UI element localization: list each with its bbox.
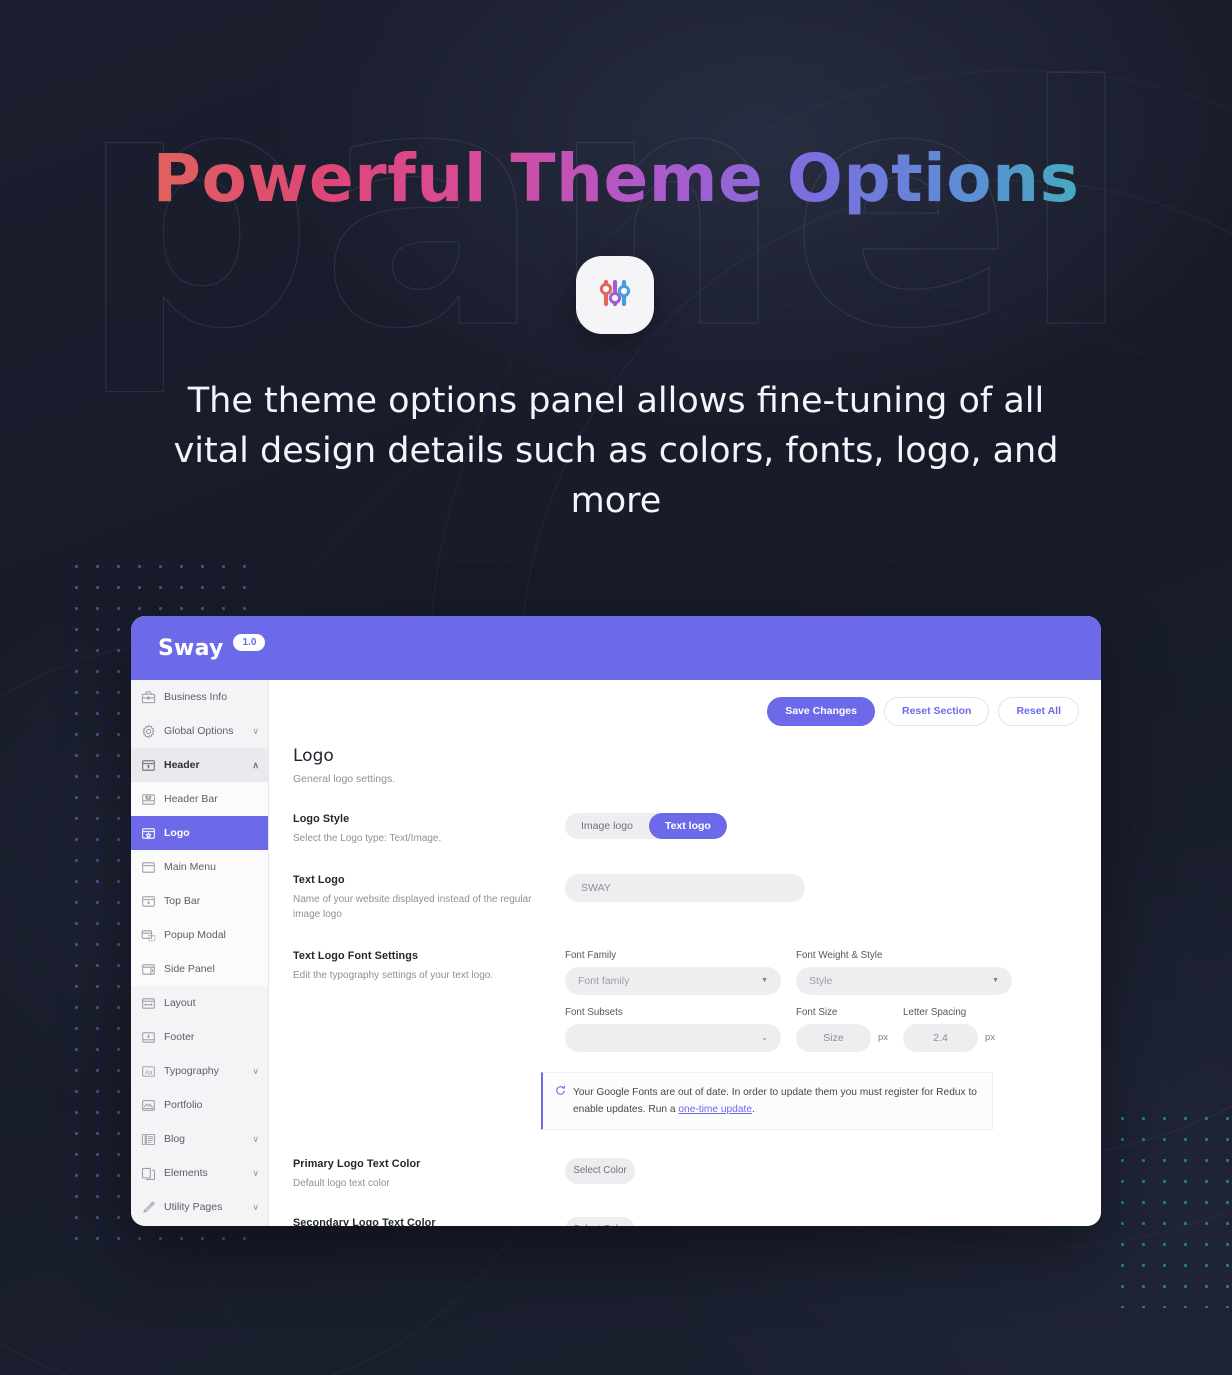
field-control: Font Family Font family ▼ Font Weight & …: [565, 950, 1077, 1052]
chevron-down-icon: ∨: [252, 1067, 259, 1076]
notice-text-before: Your Google Fonts are out of date. In or…: [573, 1087, 977, 1115]
page-root: panel Powerful Theme Options The theme o…: [0, 0, 1232, 1375]
field-control: Select Color: [565, 1158, 1077, 1191]
field-label-group: Secondary Logo Text Color Logo text colo…: [293, 1217, 565, 1227]
sidebar-item-blog[interactable]: Blog ∨: [131, 1122, 268, 1156]
field-control: Image logo Text logo: [565, 813, 1077, 846]
sidebar-item-typography[interactable]: Aa Typography ∨: [131, 1054, 268, 1088]
field-row-font-settings: Text Logo Font Settings Edit the typogra…: [269, 950, 1101, 1052]
chevron-down-icon: ∨: [252, 1169, 259, 1178]
window-nodes-icon: [141, 792, 156, 807]
window-side-icon: [141, 962, 156, 977]
sidebar-item-business-info[interactable]: Business Info: [131, 680, 268, 714]
window-dashed-icon: [141, 928, 156, 943]
sidebar-item-label: Utility Pages: [164, 1201, 244, 1213]
sidebar-item-logo[interactable]: Logo: [131, 816, 268, 850]
sidebar-item-footer[interactable]: Footer: [131, 1020, 268, 1054]
panel-topbar: Sway 1.0: [131, 616, 1101, 680]
sidebar-item-label: Portfolio: [164, 1099, 251, 1111]
font-subsets-label: Font Subsets: [565, 1007, 781, 1018]
field-row-secondary-color: Secondary Logo Text Color Logo text colo…: [269, 1217, 1101, 1227]
sidebar-item-label: Footer: [164, 1031, 251, 1043]
window-plus-icon: [141, 894, 156, 909]
reset-section-button[interactable]: Reset Section: [884, 697, 989, 726]
font-family-value: Font family: [578, 975, 629, 987]
section-description: General logo settings.: [293, 773, 1101, 785]
primary-select-color-button[interactable]: Select Color: [565, 1158, 635, 1184]
field-label-group: Primary Logo Text Color Default logo tex…: [293, 1158, 565, 1191]
chevron-down-icon: ∨: [252, 1203, 259, 1212]
font-weight-select[interactable]: Style ▼: [796, 967, 1012, 995]
pen-icon: [141, 1200, 156, 1215]
window-plain-icon: [141, 860, 156, 875]
save-changes-button[interactable]: Save Changes: [767, 697, 875, 726]
field-label: Primary Logo Text Color: [293, 1158, 547, 1170]
chevron-down-icon: ∨: [252, 727, 259, 736]
text-logo-input[interactable]: SWAY: [565, 874, 805, 902]
letter-spacing-control: 2.4 px: [903, 1024, 995, 1052]
logo-style-option-text[interactable]: Text logo: [649, 813, 727, 840]
sidebar-item-header[interactable]: Header ∧: [131, 748, 268, 782]
font-family-group: Font Family Font family ▼: [565, 950, 781, 995]
layers-icon: [141, 1166, 156, 1181]
panel-body: Business Info Global Options ∨ Header ∧ …: [131, 680, 1101, 1226]
sidebar-item-label: Elements: [164, 1167, 244, 1179]
font-size-unit: px: [878, 1032, 888, 1043]
sliders-icon: [595, 273, 635, 318]
sidebar-item-label: Top Bar: [164, 895, 251, 907]
caret-down-icon: ▼: [992, 977, 999, 984]
sidebar-item-label: Main Menu: [164, 861, 251, 873]
letter-spacing-unit: px: [985, 1032, 995, 1043]
sidebar-item-label: Header Bar: [164, 793, 251, 805]
sidebar-item-popup-modal[interactable]: Popup Modal: [131, 918, 268, 952]
field-description: Default logo text color: [293, 1176, 547, 1191]
sidebar-item-label: Layout: [164, 997, 251, 1009]
font-family-label: Font Family: [565, 950, 781, 961]
sidebar-item-label: Popup Modal: [164, 929, 251, 941]
page-title: Powerful Theme Options: [0, 140, 1232, 217]
field-label: Text Logo: [293, 874, 547, 886]
field-label-group: Text Logo Font Settings Edit the typogra…: [293, 950, 565, 1052]
logo-style-option-image[interactable]: Image logo: [565, 813, 649, 840]
font-size-group: Font Size Size px: [796, 1007, 888, 1052]
field-label-group: Logo Style Select the Logo type: Text/Im…: [293, 813, 565, 846]
secondary-select-color-button[interactable]: Select Color: [565, 1217, 635, 1227]
sliders-icon-badge: [576, 256, 654, 334]
sidebar-item-label: Blog: [164, 1133, 244, 1145]
page-subtitle: The theme options panel allows fine-tuni…: [156, 376, 1076, 526]
field-description: Edit the typography settings of your tex…: [293, 968, 547, 983]
letter-spacing-group: Letter Spacing 2.4 px: [903, 1007, 995, 1052]
reset-all-button[interactable]: Reset All: [998, 697, 1079, 726]
sidebar-item-label: Typography: [164, 1065, 244, 1077]
chevron-down-icon: ∨: [252, 1135, 259, 1144]
caret-down-icon: ▼: [761, 977, 768, 984]
one-time-update-link[interactable]: one-time update: [678, 1104, 752, 1115]
field-label: Secondary Logo Text Color: [293, 1217, 547, 1227]
window-star-icon: [141, 826, 156, 841]
field-row-logo-style: Logo Style Select the Logo type: Text/Im…: [269, 813, 1101, 846]
sidebar-item-global-options[interactable]: Global Options ∨: [131, 714, 268, 748]
sidebar-item-label: Side Panel: [164, 963, 251, 975]
font-weight-label: Font Weight & Style: [796, 950, 1012, 961]
refresh-icon: [555, 1085, 566, 1118]
sidebar-item-side-panel[interactable]: Side Panel: [131, 952, 268, 986]
sidebar-item-header-bar[interactable]: Header Bar: [131, 782, 268, 816]
briefcase-icon: [141, 690, 156, 705]
font-size-input[interactable]: Size: [796, 1024, 871, 1052]
section-title: Logo: [293, 746, 1101, 766]
field-description: Name of your website displayed instead o…: [293, 892, 547, 922]
field-control: SWAY: [565, 874, 1077, 922]
version-badge: 1.0: [233, 634, 265, 651]
field-label-group: Text Logo Name of your website displayed…: [293, 874, 565, 922]
type-aa-icon: Aa: [141, 1064, 156, 1079]
font-size-control: Size px: [796, 1024, 888, 1052]
font-size-label: Font Size: [796, 1007, 888, 1018]
action-bar: Save Changes Reset Section Reset All: [269, 680, 1101, 726]
letter-spacing-label: Letter Spacing: [903, 1007, 995, 1018]
field-control: Select Color: [565, 1217, 1077, 1227]
letter-spacing-input[interactable]: 2.4: [903, 1024, 978, 1052]
field-description: Select the Logo type: Text/Image.: [293, 831, 547, 846]
brand-name: Sway: [158, 636, 223, 661]
sidebar-item-label: Logo: [164, 827, 251, 839]
sidebar-item-top-bar[interactable]: Top Bar: [131, 884, 268, 918]
sidebar-item-main-menu[interactable]: Main Menu: [131, 850, 268, 884]
window-arrow-up-icon: [141, 758, 156, 773]
sidebar[interactable]: Business Info Global Options ∨ Header ∧ …: [131, 680, 269, 1226]
google-fonts-notice: Your Google Fonts are out of date. In or…: [541, 1072, 993, 1130]
content-area: Save Changes Reset Section Reset All Log…: [269, 680, 1101, 1226]
field-row-primary-color: Primary Logo Text Color Default logo tex…: [269, 1158, 1101, 1191]
sidebar-item-layout[interactable]: Layout: [131, 986, 268, 1020]
field-row-text-logo: Text Logo Name of your website displayed…: [269, 874, 1101, 922]
sidebar-item-elements[interactable]: Elements ∨: [131, 1156, 268, 1190]
sidebar-item-portfolio[interactable]: Portfolio: [131, 1088, 268, 1122]
window-arrow-down-icon: [141, 1030, 156, 1045]
notice-text-after: .: [752, 1104, 755, 1115]
svg-text:Aa: Aa: [145, 1069, 153, 1076]
font-subsets-select[interactable]: ⌄: [565, 1024, 781, 1052]
chevron-down-icon: ⌄: [761, 1033, 768, 1042]
section-header: Logo General logo settings.: [269, 726, 1101, 785]
font-weight-group: Font Weight & Style Style ▼: [796, 950, 1012, 995]
layout-width-icon: [141, 996, 156, 1011]
font-settings-grid: Font Family Font family ▼ Font Weight & …: [565, 950, 1077, 1052]
chevron-up-icon: ∧: [252, 761, 259, 770]
article-icon: [141, 1132, 156, 1147]
field-label: Text Logo Font Settings: [293, 950, 547, 962]
theme-options-panel: Sway 1.0 Business Info Global Options ∨: [131, 616, 1101, 1226]
field-label: Logo Style: [293, 813, 547, 825]
sidebar-item-label: Header: [164, 759, 244, 771]
sidebar-item-utility-pages[interactable]: Utility Pages ∨: [131, 1190, 268, 1224]
image-icon: [141, 1098, 156, 1113]
sidebar-item-label: Business Info: [164, 691, 251, 703]
font-weight-value: Style: [809, 975, 832, 987]
notice-text: Your Google Fonts are out of date. In or…: [573, 1084, 978, 1118]
font-subsets-group: Font Subsets ⌄: [565, 1007, 781, 1052]
sidebar-item-label: Global Options: [164, 725, 244, 737]
logo-style-toggle[interactable]: Image logo Text logo: [565, 813, 727, 840]
dot-grid-right: [1112, 1108, 1232, 1308]
font-family-select[interactable]: Font family ▼: [565, 967, 781, 995]
gear-icon: [141, 724, 156, 739]
